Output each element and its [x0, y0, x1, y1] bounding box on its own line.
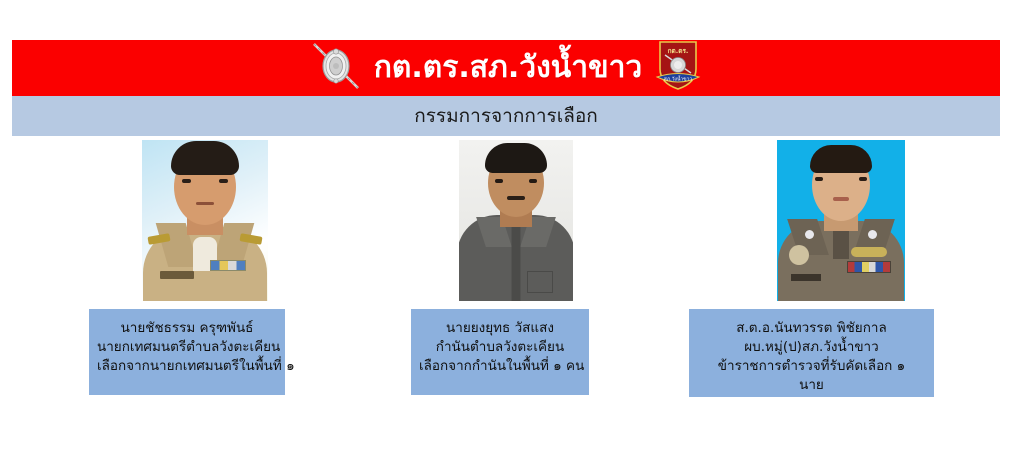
member-selection: เลือกจากนายกเทศมนตรีในพื้นที่ ๑: [97, 357, 277, 376]
section-subtitle-text: กรรมการจากการเลือก: [414, 107, 598, 126]
police-garuda-emblem: [308, 40, 364, 96]
portrait-chatchatham: [142, 140, 268, 301]
member-position: ผบ.หมู่(ป)สภ.วังน้ำขาว: [697, 338, 926, 357]
member-card: นายชัชธรรม ครุฑพันธ์ นายกเทศมนตรีตำบลวัง…: [124, 140, 285, 395]
member-selection: ข้าราชการตำรวจที่รับคัดเลือก ๑: [697, 357, 926, 376]
member-position: กำนันตำบลวังตะเคียน: [419, 338, 581, 357]
member-card: ส.ต.อ.นันทวรรต พิชัยกาล ผบ.หมู่(ป)สภ.วัง…: [748, 140, 934, 397]
page-title: กต.ตร.สภ.วังน้ำขาว: [374, 53, 643, 83]
section-subtitle-bar: กรรมการจากการเลือก: [12, 96, 1000, 136]
portrait-nanthawat: [777, 140, 905, 301]
member-selection: เลือกจากกำนันในพื้นที่ ๑ คน: [419, 357, 581, 376]
member-position: นายกเทศมนตรีตำบลวังตะเคียน: [97, 338, 277, 357]
member-caption: นายยงยุทธ วัสแสง กำนันตำบลวังตะเคียน เลื…: [411, 309, 589, 395]
committee-members-row: นายชัชธรรม ครุฑพันธ์ นายกเทศมนตรีตำบลวัง…: [0, 140, 1027, 420]
member-caption: นายชัชธรรม ครุฑพันธ์ นายกเทศมนตรีตำบลวัง…: [89, 309, 285, 395]
member-caption: ส.ต.อ.นันทวรรต พิชัยกาล ผบ.หมู่(ป)สภ.วัง…: [689, 309, 934, 397]
member-name: ส.ต.อ.นันทวรรต พิชัยกาล: [697, 319, 926, 338]
member-name: นายยงยุทธ วัสแสง: [419, 319, 581, 338]
kor-tor-tor-shield-badge: กต.ตร. สภ.วังน้ำขาว: [652, 39, 704, 97]
member-name: นายชัชธรรม ครุฑพันธ์: [97, 319, 277, 338]
member-selection-cont: นาย: [697, 376, 926, 395]
svg-text:กต.ตร.: กต.ตร.: [668, 47, 689, 55]
member-card: นายยงยุทธ วัสแสง กำนันตำบลวังตะเคียน เลื…: [443, 140, 589, 395]
portrait-yongyuth: [459, 140, 573, 301]
site-header-banner: กต.ตร.สภ.วังน้ำขาว กต.ตร. สภ.วังน้ำขาว: [12, 40, 1000, 96]
